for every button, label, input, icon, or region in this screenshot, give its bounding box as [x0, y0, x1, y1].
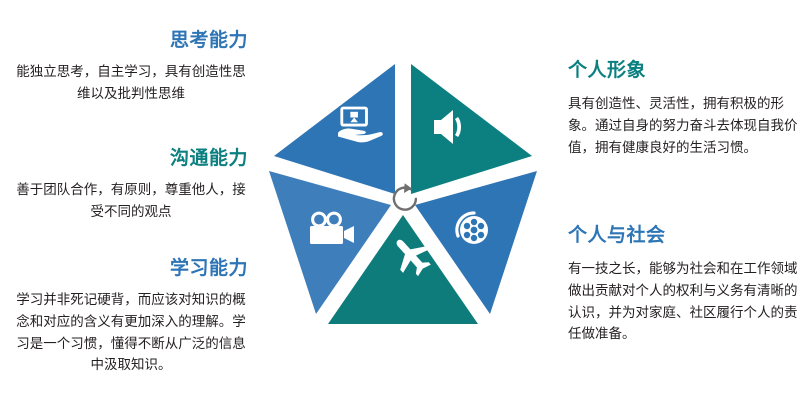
heading-thinking-ability: 思考能力 — [0, 30, 262, 52]
wedge-thinking-shape — [274, 64, 395, 194]
body-learning-ability: 学习并非死记硬背，而应该对知识的概念和对应的含义有更加深入的理解。学习是一个习惯… — [0, 289, 262, 376]
body-personal-image: 具有创造性、灵活性，拥有积极的形象。通过自身的努力奋斗去体现自我价值，拥有健康良… — [550, 93, 812, 159]
heading-individual-and-society: 个人与社会 — [550, 225, 812, 247]
block-individual-and-society: 个人与社会 有一技之长，能够为社会和在工作领域做出贡献对个人的权利与义务有清晰的… — [550, 225, 812, 345]
body-individual-and-society: 有一技之长，能够为社会和在工作领域做出贡献对个人的权利与义务有清晰的认识，并为对… — [550, 258, 812, 345]
wedge-thinking[interactable] — [274, 64, 395, 194]
block-learning-ability: 学习能力 学习并非死记硬背，而应该对知识的概念和对应的含义有更加深入的理解。学习… — [0, 258, 262, 376]
heading-learning-ability: 学习能力 — [0, 258, 262, 280]
infographic-canvas: 思考能力 能独立思考，自主学习，具有创造性思维以及批判性思维 沟通能力 善于团队… — [0, 0, 812, 414]
body-communication-ability: 善于团队合作，有原则，尊重他人，接受不同的观点 — [0, 179, 262, 223]
wedge-personal-image[interactable] — [411, 64, 532, 194]
block-thinking-ability: 思考能力 能独立思考，自主学习，具有创造性思维以及批判性思维 — [0, 30, 262, 105]
heading-communication-ability: 沟通能力 — [0, 148, 262, 170]
block-communication-ability: 沟通能力 善于团队合作，有原则，尊重他人，接受不同的观点 — [0, 148, 262, 223]
pentagon-wheel-diagram — [258, 52, 548, 342]
body-thinking-ability: 能独立思考，自主学习，具有创造性思维以及批判性思维 — [0, 61, 262, 105]
heading-personal-image: 个人形象 — [550, 60, 812, 82]
wedge-personal-image-shape — [411, 64, 532, 194]
block-personal-image: 个人形象 具有创造性、灵活性，拥有积极的形象。通过自身的努力奋斗去体现自我价值，… — [550, 60, 812, 158]
